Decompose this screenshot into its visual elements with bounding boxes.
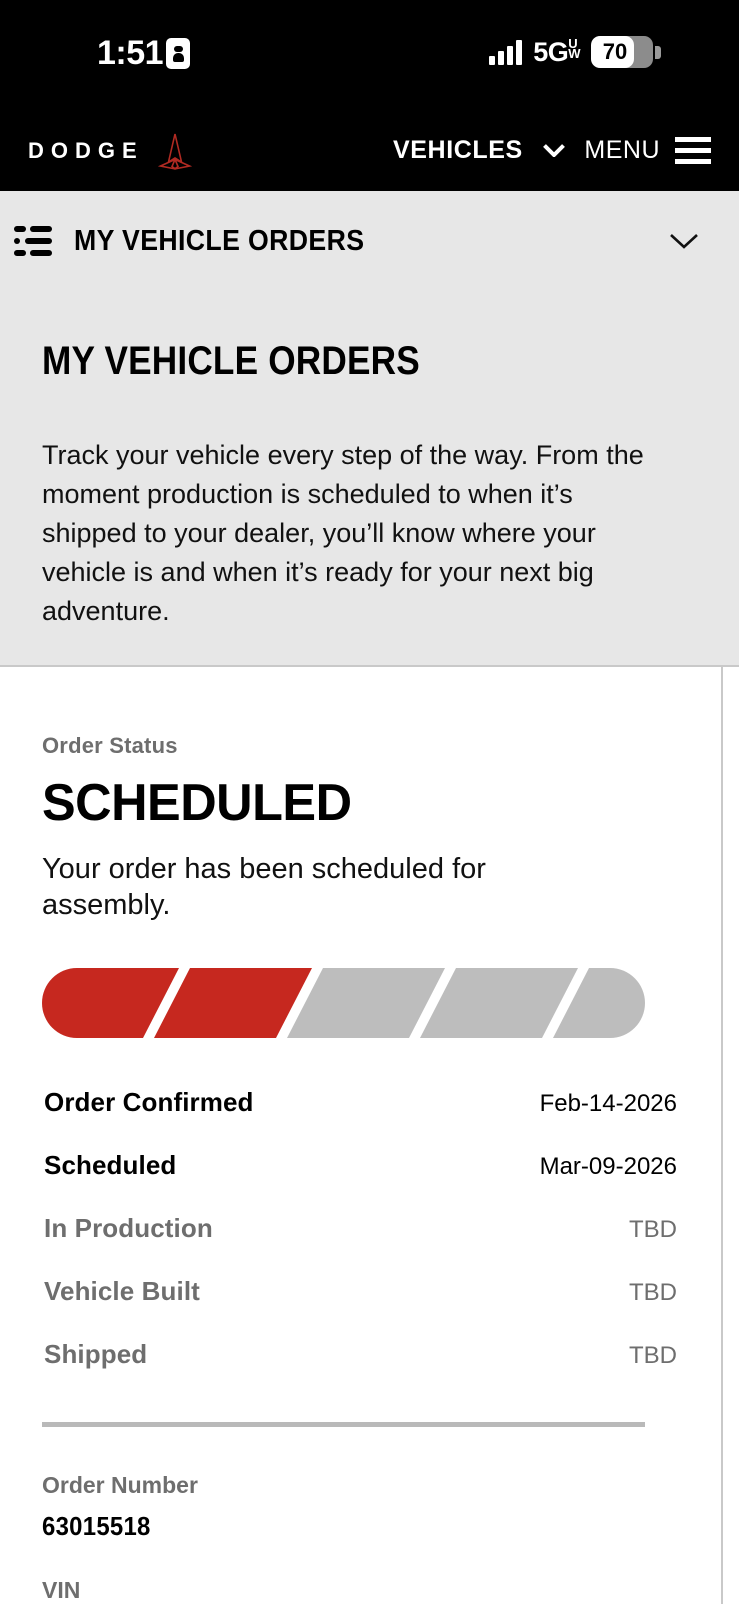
order-progress-bar [42, 968, 645, 1038]
intro-section: MY VEHICLE ORDERS MY VEHICLE ORDERS Trac… [0, 191, 739, 667]
milestone-row: In Production TBD [42, 1197, 679, 1260]
order-status-description: Your order has been scheduled for assemb… [42, 851, 552, 923]
my-vehicle-orders-accordion-header[interactable]: MY VEHICLE ORDERS [0, 191, 739, 291]
dodge-brand-logo[interactable]: DODGE [28, 132, 192, 170]
milestone-list: Order Confirmed Feb-14-2026 Scheduled Ma… [42, 1071, 679, 1386]
order-number-field: Order Number 63015518 [42, 1472, 679, 1542]
page-title: MY VEHICLE ORDERS [42, 339, 655, 384]
cellular-signal-icon [489, 40, 522, 65]
milestone-label: Scheduled [44, 1150, 176, 1181]
battery-icon: 70 [591, 36, 661, 68]
milestone-label: Shipped [44, 1339, 147, 1370]
network-label: 5G [533, 37, 568, 68]
list-icon [14, 224, 52, 258]
brand-wordmark: DODGE [28, 138, 144, 164]
order-status-value: SCHEDULED [42, 773, 660, 833]
fratzog-logo-icon [158, 132, 192, 170]
hamburger-icon [675, 137, 711, 164]
status-bar-indicators: 5G U W 70 [489, 36, 661, 68]
milestone-row: Order Confirmed Feb-14-2026 [42, 1071, 679, 1134]
network-suffix: U W [568, 39, 580, 59]
chevron-down-icon [543, 144, 565, 157]
order-card: Order Status SCHEDULED Your order has be… [0, 667, 723, 1604]
milestone-date: Feb-14-2026 [540, 1090, 677, 1118]
milestone-date: Mar-09-2026 [540, 1153, 677, 1181]
chevron-down-icon[interactable] [669, 233, 699, 250]
accordion-header-title: MY VEHICLE ORDERS [74, 225, 364, 258]
milestone-date: TBD [629, 1342, 677, 1370]
milestone-date: TBD [629, 1216, 677, 1244]
order-number-label: Order Number [42, 1472, 679, 1499]
order-status-label: Order Status [42, 667, 679, 759]
milestone-row: Shipped TBD [42, 1323, 679, 1386]
nav-menu-button[interactable]: MENU [584, 136, 711, 165]
site-navbar: DODGE VEHICLES MENU [0, 110, 739, 191]
page-description: Track your vehicle every step of the way… [42, 436, 657, 631]
milestone-label: Order Confirmed [44, 1087, 254, 1118]
milestone-label: Vehicle Built [44, 1276, 200, 1307]
nav-menu-label: MENU [584, 136, 660, 165]
milestone-date: TBD [629, 1279, 677, 1307]
nav-vehicles-label: VEHICLES [393, 136, 523, 165]
battery-level: 70 [591, 36, 653, 68]
milestone-row: Scheduled Mar-09-2026 [42, 1134, 679, 1197]
network-type: 5G U W [533, 37, 580, 68]
nav-item-vehicles[interactable]: VEHICLES [393, 136, 565, 165]
progress-segments [42, 968, 645, 1038]
status-bar-time: 1:51 [97, 34, 163, 73]
milestone-row: Vehicle Built TBD [42, 1260, 679, 1323]
order-number-value: 63015518 [42, 1511, 628, 1542]
status-bar: 1:51 5G U W 70 [0, 0, 739, 110]
section-divider [42, 1422, 645, 1427]
id-badge-icon [166, 38, 190, 69]
milestone-label: In Production [44, 1213, 213, 1244]
